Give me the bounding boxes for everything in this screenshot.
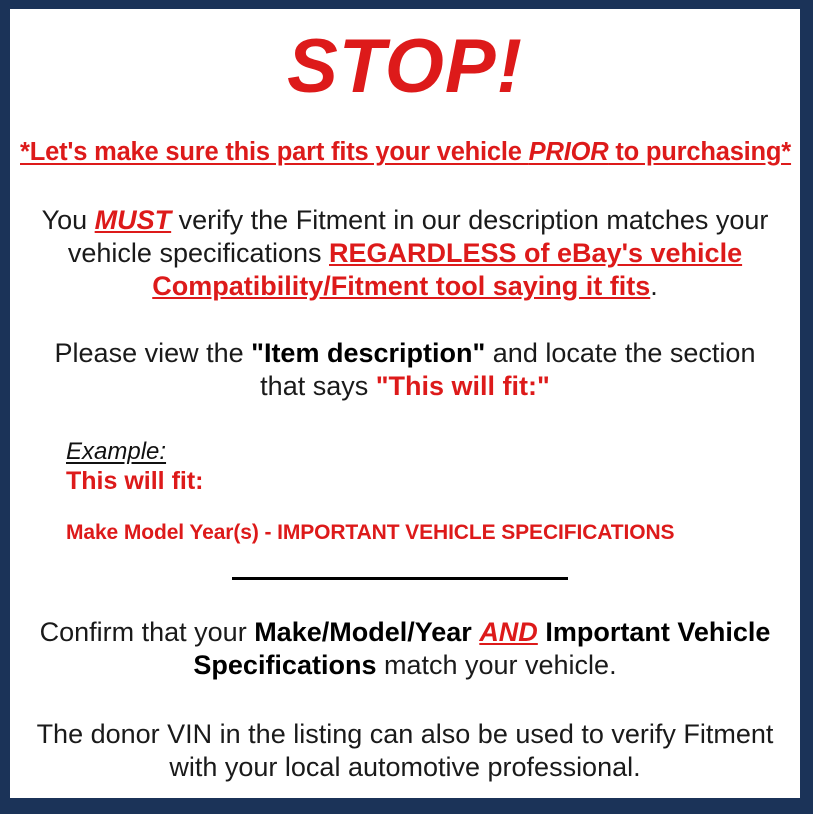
example-label-row: Example:: [66, 439, 790, 464]
confirm-text-end: match your vehicle.: [376, 650, 616, 680]
confirm-paragraph: Confirm that your Make/Model/Year AND Im…: [20, 616, 790, 682]
confirm-text-lead: Confirm that your: [40, 617, 255, 647]
must-text-end: .: [650, 271, 658, 301]
donor-vin-paragraph: The donor VIN in the listing can also be…: [20, 718, 790, 784]
subtitle-part1: *Let's make sure this part fits your veh…: [20, 138, 529, 166]
must-text-lead: You: [42, 205, 95, 235]
view-text-lead: Please view the: [55, 338, 252, 368]
subtitle-part2: to purchasing*: [608, 138, 791, 166]
horizontal-divider: [232, 577, 568, 580]
example-fit-heading: This will fit:: [66, 468, 790, 496]
and-emphasis: AND: [479, 617, 538, 647]
must-verify-paragraph: You MUST verify the Fitment in our descr…: [20, 204, 790, 303]
divider-wrapper: [20, 572, 790, 586]
example-block: Example: This will fit: Make Model Year(…: [20, 439, 790, 546]
subtitle-emphasis-prior: PRIOR: [529, 138, 609, 166]
item-description-paragraph: Please view the "Item description" and l…: [20, 337, 790, 403]
example-spec-line: Make Model Year(s) - IMPORTANT VEHICLE S…: [66, 521, 790, 545]
example-label: Example:: [66, 439, 166, 464]
must-emphasis: MUST: [95, 205, 172, 235]
this-will-fit-emphasis: "This will fit:": [376, 371, 550, 401]
notice-sheet: STOP! *Let's make sure this part fits yo…: [10, 9, 800, 798]
subtitle-line: *Let's make sure this part fits your veh…: [20, 138, 790, 166]
notice-border-frame: STOP! *Let's make sure this part fits yo…: [0, 0, 813, 814]
item-description-emphasis: "Item description": [251, 338, 485, 368]
page-title: STOP!: [20, 29, 790, 105]
make-model-year-emphasis: Make/Model/Year: [254, 617, 472, 647]
